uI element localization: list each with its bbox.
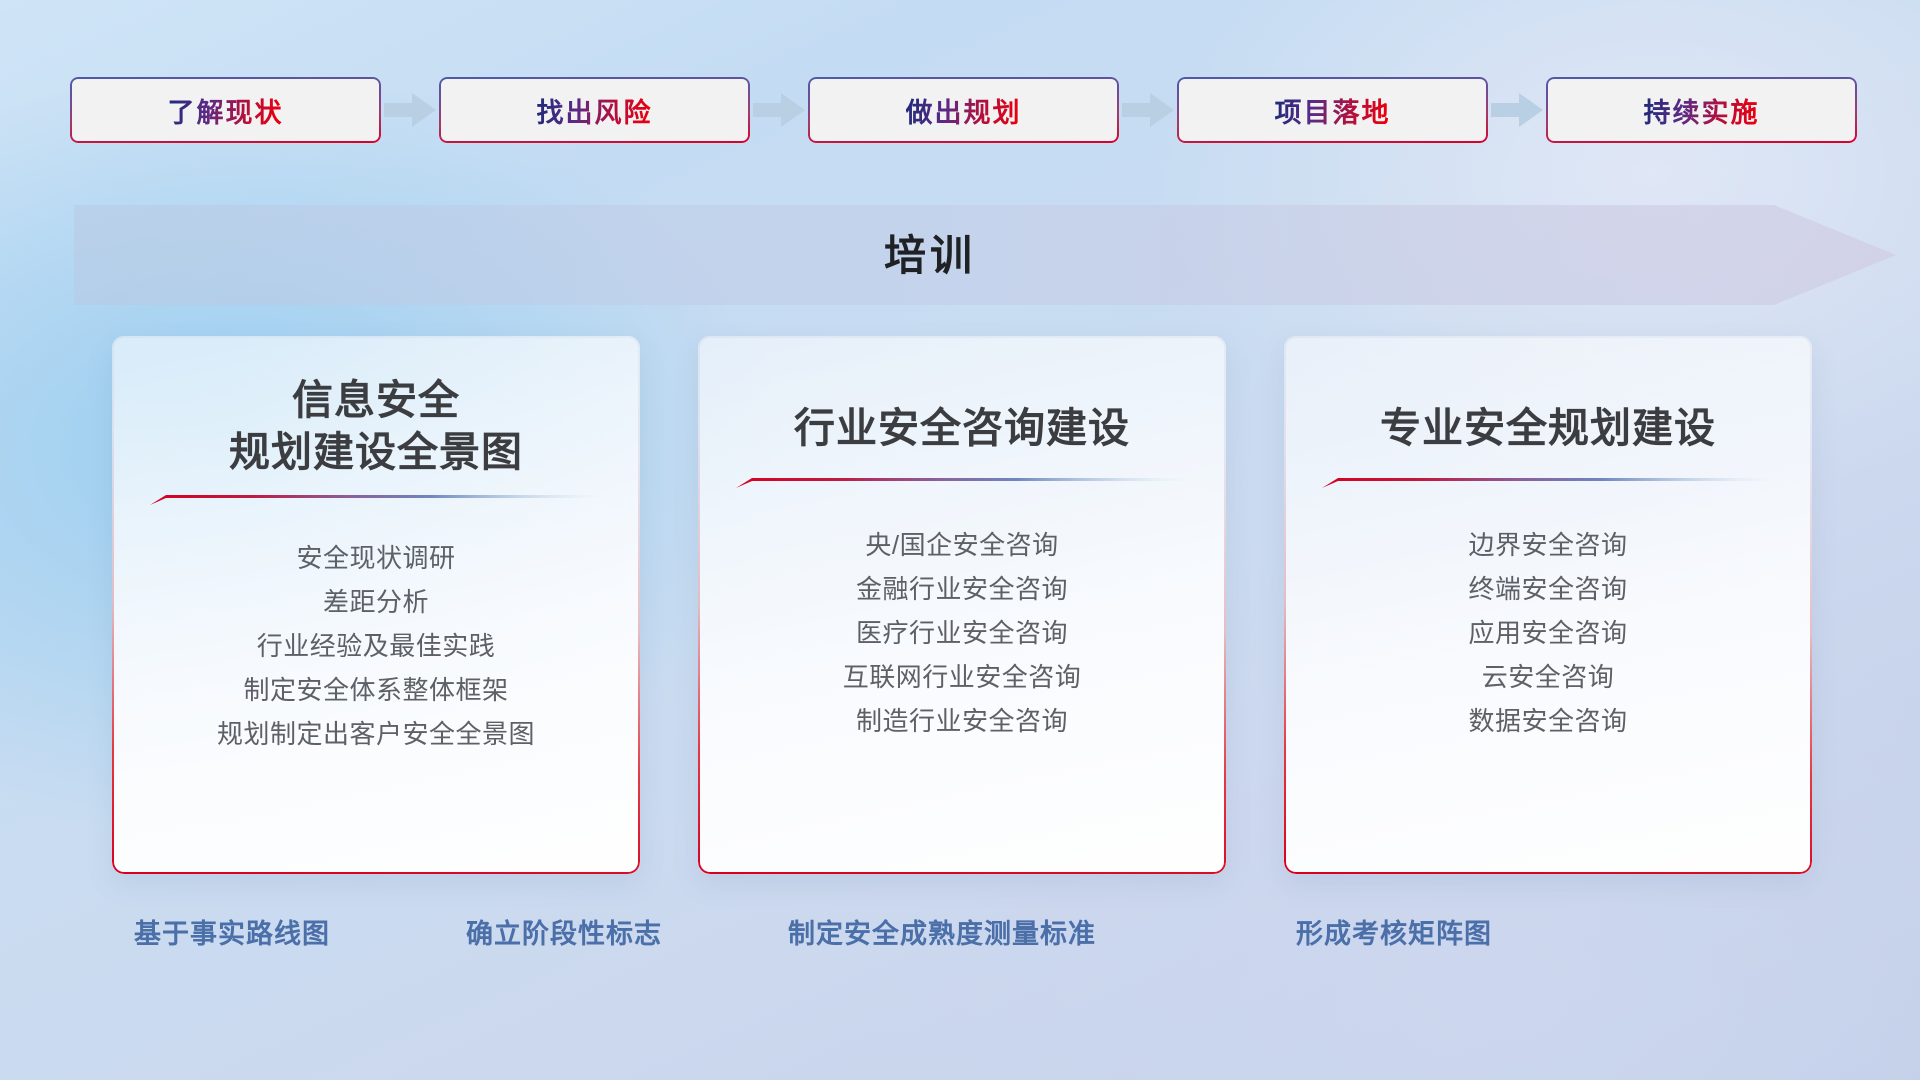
- card-title: 专业安全规划建设: [1380, 402, 1716, 454]
- card-title: 行业安全咨询建设: [794, 402, 1130, 454]
- list-item: 制定安全体系整体框架: [142, 668, 610, 712]
- step-box-5[interactable]: 持续实施: [1546, 77, 1857, 143]
- slide-canvas: 了解现状 找出风险 做出规划 项目落地: [0, 0, 1920, 1080]
- list-item: 医疗行业安全咨询: [728, 611, 1196, 655]
- list-item: 边界安全咨询: [1314, 523, 1782, 567]
- right-arrow-icon: [1488, 90, 1546, 130]
- step-flow: 了解现状 找出风险 做出规划 项目落地: [70, 76, 1850, 144]
- list-item: 数据安全咨询: [1314, 699, 1782, 743]
- list-item: 行业经验及最佳实践: [142, 624, 610, 668]
- step-label: 持续实施: [1644, 91, 1760, 130]
- gradient-rule-icon: [150, 493, 602, 506]
- list-item: 应用安全咨询: [1314, 611, 1782, 655]
- card-list: 安全现状调研 差距分析 行业经验及最佳实践 制定安全体系整体框架 规划制定出客户…: [142, 536, 610, 756]
- card-list: 央/国企安全咨询 金融行业安全咨询 医疗行业安全咨询 互联网行业安全咨询 制造行…: [728, 523, 1196, 743]
- step-label: 做出规划: [906, 91, 1022, 130]
- step-box-3[interactable]: 做出规划: [808, 77, 1119, 143]
- caption-matrix: 形成考核矩阵图: [1296, 912, 1492, 951]
- list-item: 安全现状调研: [142, 536, 610, 580]
- gradient-rule-icon: [736, 476, 1188, 489]
- card-row: 信息安全 规划建设全景图: [112, 336, 1812, 874]
- list-item: 金融行业安全咨询: [728, 567, 1196, 611]
- step-box-2[interactable]: 找出风险: [439, 77, 750, 143]
- caption-maturity: 制定安全成熟度测量标准: [788, 912, 1096, 951]
- list-item: 央/国企安全咨询: [728, 523, 1196, 567]
- list-item: 差距分析: [142, 580, 610, 624]
- right-arrow-icon: [381, 90, 439, 130]
- caption-roadmap: 基于事实路线图: [134, 912, 330, 951]
- card-industry-security-consulting[interactable]: 行业安全咨询建设: [698, 336, 1226, 874]
- gradient-rule-icon: [1322, 476, 1774, 489]
- step-box-4[interactable]: 项目落地: [1177, 77, 1488, 143]
- list-item: 终端安全咨询: [1314, 567, 1782, 611]
- caption-milestone: 确立阶段性标志: [466, 912, 662, 951]
- caption-row: 基于事实路线图 确立阶段性标志 制定安全成熟度测量标准 形成考核矩阵图: [0, 912, 1920, 958]
- banner-title: 培训: [0, 208, 1920, 303]
- step-box-1[interactable]: 了解现状: [70, 77, 381, 143]
- card-info-security-blueprint[interactable]: 信息安全 规划建设全景图: [112, 336, 640, 874]
- card-list: 边界安全咨询 终端安全咨询 应用安全咨询 云安全咨询 数据安全咨询: [1314, 523, 1782, 743]
- card-professional-security-planning[interactable]: 专业安全规划建设: [1284, 336, 1812, 874]
- step-label: 了解现状: [168, 91, 284, 130]
- list-item: 规划制定出客户安全全景图: [142, 712, 610, 756]
- right-arrow-icon: [1119, 90, 1177, 130]
- card-title: 信息安全 规划建设全景图: [229, 374, 523, 479]
- step-label: 找出风险: [537, 91, 653, 130]
- list-item: 云安全咨询: [1314, 655, 1782, 699]
- right-arrow-icon: [750, 90, 808, 130]
- list-item: 互联网行业安全咨询: [728, 655, 1196, 699]
- step-label: 项目落地: [1275, 91, 1391, 130]
- list-item: 制造行业安全咨询: [728, 699, 1196, 743]
